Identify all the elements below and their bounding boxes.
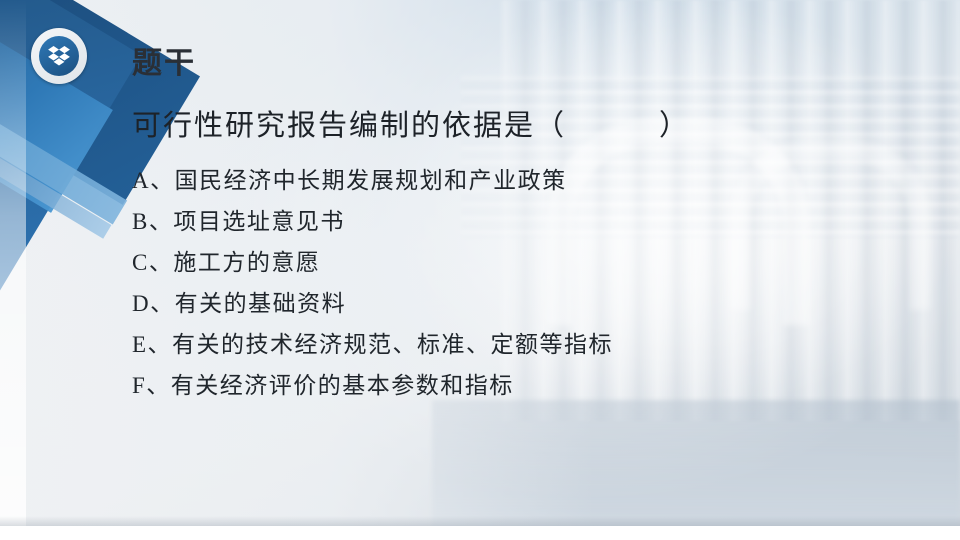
- list-item: F、有关经济评价的基本参数和指标: [132, 365, 920, 406]
- list-item: D、有关的基础资料: [132, 283, 920, 324]
- question-text: 可行性研究报告编制的依据是（ ）: [132, 108, 920, 146]
- left-edge-band: [0, 0, 26, 540]
- list-item: B、项目选址意见书: [132, 201, 920, 242]
- page-title: 题干: [132, 46, 920, 82]
- list-item: A、国民经济中长期发展规划和产业政策: [132, 160, 920, 201]
- logo-badge: [31, 28, 87, 84]
- list-item: E、有关的技术经济规范、标准、定额等指标: [132, 324, 920, 365]
- bottom-white-band: [0, 526, 960, 540]
- answer-options-list: A、国民经济中长期发展规划和产业政策 B、项目选址意见书 C、施工方的意愿 D、…: [132, 160, 920, 406]
- dropbox-logo-icon: [39, 36, 79, 76]
- list-item: C、施工方的意愿: [132, 242, 920, 283]
- slide-content: 题干 可行性研究报告编制的依据是（ ） A、国民经济中长期发展规划和产业政策 B…: [132, 46, 920, 406]
- presentation-slide: 题干 可行性研究报告编制的依据是（ ） A、国民经济中长期发展规划和产业政策 B…: [0, 0, 960, 540]
- bottom-shadow: [0, 516, 960, 526]
